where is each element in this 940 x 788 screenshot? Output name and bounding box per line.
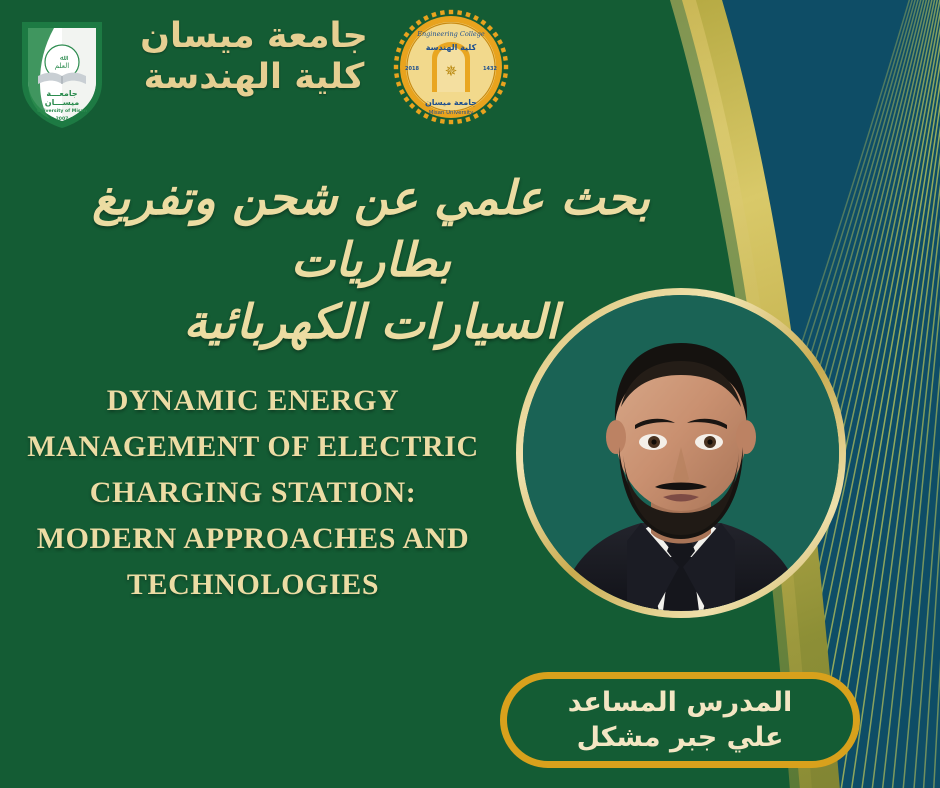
english-title-line-1: DYNAMIC ENERGY xyxy=(20,378,486,424)
portrait-gold-ring xyxy=(516,288,846,618)
svg-text:Engineering College: Engineering College xyxy=(416,30,485,38)
nameplate-name: علي جبر مشكل xyxy=(568,720,792,755)
presenter-portrait xyxy=(516,288,846,618)
english-title-line-2: MANAGEMENT OF ELECTRIC xyxy=(20,424,486,470)
svg-text:2018: 2018 xyxy=(405,66,419,72)
engineering-college-seal-logo: ✵ Engineering College كلية الهندسة 2018 … xyxy=(392,6,510,128)
english-title-line-5: TECHNOLOGIES xyxy=(20,562,486,608)
svg-text:Misan University: Misan University xyxy=(429,110,474,116)
svg-text:جامعـــة: جامعـــة xyxy=(46,89,78,98)
svg-text:العلم: العلم xyxy=(55,62,69,70)
university-name-block: جامعة ميسان كلية الهندسة xyxy=(120,16,388,99)
svg-text:جامعة ميسان: جامعة ميسان xyxy=(425,98,477,107)
poster-root: ﷲ العلم جامعـــة ميســـان University of … xyxy=(0,0,940,788)
svg-text:كلية الهندسة: كلية الهندسة xyxy=(426,43,477,52)
presenter-nameplate: المدرس المساعد علي جبر مشكل xyxy=(500,672,860,768)
college-name-line-2: كلية الهندسة xyxy=(120,57,388,98)
english-title-line-3: CHARGING STATION: xyxy=(20,470,486,516)
svg-text:ميســـان: ميســـان xyxy=(45,98,79,107)
svg-text:1432: 1432 xyxy=(483,66,497,72)
svg-text:✵: ✵ xyxy=(445,62,458,80)
arabic-title-line-1: بحث علمي عن شحن وتفريغ بطاريات xyxy=(26,168,716,292)
nameplate-title: المدرس المساعد xyxy=(568,685,792,720)
nameplate-text: المدرس المساعد علي جبر مشكل xyxy=(568,685,792,755)
svg-text:University of Misan: University of Misan xyxy=(37,108,87,114)
portrait-photo xyxy=(523,295,839,611)
poster-header: ﷲ العلم جامعـــة ميســـان University of … xyxy=(0,0,940,140)
svg-text:2007: 2007 xyxy=(56,116,69,122)
english-title-line-4: MODERN APPROACHES AND xyxy=(20,516,486,562)
english-research-title: DYNAMIC ENERGY MANAGEMENT OF ELECTRIC CH… xyxy=(20,378,486,607)
university-of-misan-shield-logo: ﷲ العلم جامعـــة ميســـان University of … xyxy=(14,16,110,132)
university-name-line-1: جامعة ميسان xyxy=(120,16,388,57)
